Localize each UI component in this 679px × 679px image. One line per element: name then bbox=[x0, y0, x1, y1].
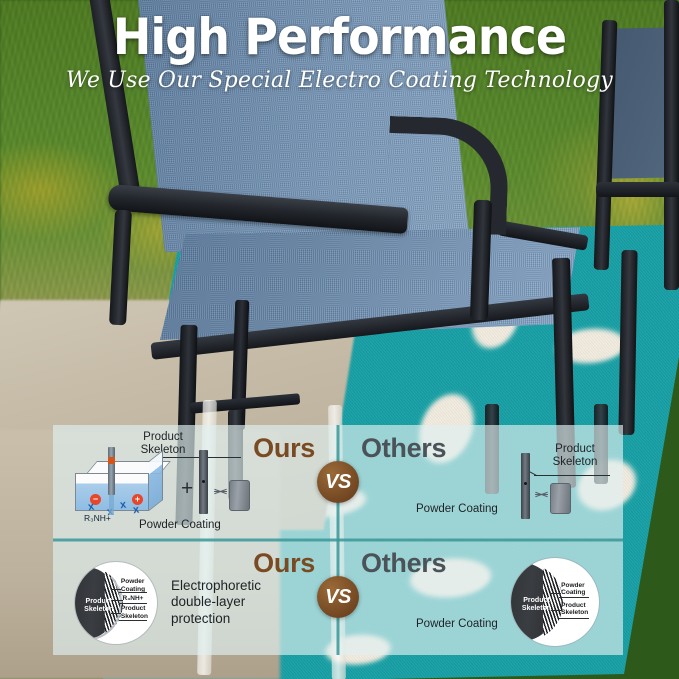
core-line1: Product bbox=[516, 597, 556, 605]
heading-ours-bottom: Ours bbox=[253, 548, 315, 579]
cell-others-process: Others Product Skeleton Powder Coating bbox=[338, 425, 623, 540]
leader-layer1-others bbox=[551, 593, 562, 594]
panel-divider-horizontal bbox=[53, 539, 623, 542]
page-title: High Performance bbox=[27, 11, 652, 64]
cell-ours-result: Ours Product Skeleton Powder Coating R₃N… bbox=[53, 540, 338, 655]
cross-section-layer1-ours: Powder Coating bbox=[121, 578, 145, 592]
ion-glyph-4: x bbox=[132, 504, 140, 517]
electrode-rod bbox=[108, 447, 115, 495]
product-skeleton-line1: Product bbox=[123, 431, 203, 444]
comparison-panel: Ours Product Skeleton − + x x x x R₃NH+ bbox=[53, 425, 623, 655]
header: High Performance We Use Our Special Elec… bbox=[0, 0, 679, 93]
marketing-image: High Performance We Use Our Special Elec… bbox=[0, 0, 679, 679]
cross-section-layer1-others: Powder Coating bbox=[561, 582, 585, 596]
underline-layer3-ours bbox=[119, 620, 147, 621]
heading-others-top: Others bbox=[361, 433, 446, 464]
label-product-skeleton-top-right: Product Skeleton bbox=[542, 443, 608, 470]
spray-gun-top-right bbox=[550, 483, 571, 514]
layer1-line1: Powder bbox=[561, 582, 585, 589]
benefit-line3: protection bbox=[171, 611, 261, 627]
layer2-line2: Skeleton bbox=[561, 609, 588, 616]
label-powder-coating-bottom-right: Powder Coating bbox=[416, 618, 498, 631]
product-skeleton-line2: Skeleton bbox=[123, 444, 203, 457]
spray-icon-top-left bbox=[214, 485, 228, 499]
electrode-contact-cap bbox=[108, 457, 115, 464]
cross-section-layer2-ours: R₃NH+ bbox=[123, 595, 144, 602]
benefit-line1: Electrophoretic bbox=[171, 578, 261, 594]
underline-layer2-others bbox=[559, 618, 589, 619]
table-leg bbox=[618, 250, 637, 435]
core-line2: Skeleton bbox=[516, 605, 556, 613]
leader-line-skeleton-right bbox=[534, 475, 610, 476]
heading-others-bottom: Others bbox=[361, 548, 446, 579]
cross-section-layer2-others: Product Skeleton bbox=[561, 602, 588, 616]
cell-ours-process: Ours Product Skeleton − + x x x x R₃NH+ bbox=[53, 425, 338, 540]
cross-section-others: Product Skeleton Powder Coating Product … bbox=[511, 558, 599, 646]
layer3-line1: Product bbox=[121, 605, 148, 612]
label-powder-coating-top-left: Powder Coating bbox=[139, 519, 221, 532]
cell-others-result: Others Powder Coating Product Skeleton P… bbox=[338, 540, 623, 655]
underline-layer1-others bbox=[559, 597, 589, 598]
layer3-line2: Skeleton bbox=[121, 613, 148, 620]
skeleton-anchor-dot-right bbox=[524, 482, 527, 485]
product-skeleton-line1: Product bbox=[542, 443, 608, 456]
product-skeleton-bar-top-right bbox=[521, 453, 530, 519]
benefit-line2: double-layer bbox=[171, 594, 261, 610]
electro-bath-diagram: − + x x x x R₃NH+ bbox=[75, 461, 170, 513]
leader-layer3-ours bbox=[111, 613, 121, 614]
layer1-line1: Powder bbox=[121, 578, 145, 585]
bath-side-face bbox=[149, 450, 163, 511]
cross-section-ours: Product Skeleton Powder Coating R₃NH+ Pr… bbox=[75, 562, 157, 644]
layer2-line1: Product bbox=[561, 602, 588, 609]
leader-layer1-ours bbox=[111, 589, 121, 590]
product-skeleton-line2: Skeleton bbox=[542, 456, 608, 469]
bath-solution-formula: R₃NH+ bbox=[84, 513, 111, 523]
cross-section-layer3-ours: Product Skeleton bbox=[121, 605, 148, 619]
spray-icon-top-right bbox=[535, 488, 549, 502]
vs-badge-bottom: VS bbox=[317, 576, 359, 618]
second-chair-armrest bbox=[596, 182, 679, 197]
heading-ours-top: Ours bbox=[253, 433, 315, 464]
skeleton-anchor-dot bbox=[202, 480, 205, 483]
ion-glyph-2: x bbox=[119, 499, 127, 512]
layer1-line2: Coating bbox=[561, 589, 585, 596]
spray-gun-top-left bbox=[229, 480, 250, 511]
leader-layer2-ours bbox=[112, 600, 123, 601]
page-subtitle: We Use Our Special Electro Coating Techn… bbox=[10, 67, 669, 93]
vs-badge-top: VS bbox=[317, 461, 359, 503]
leader-layer2-others bbox=[551, 610, 562, 611]
underline-layer1-ours bbox=[119, 592, 147, 593]
armrest-front-post bbox=[109, 210, 132, 326]
label-product-skeleton-top-left: Product Skeleton bbox=[123, 431, 203, 458]
plus-operator: + bbox=[181, 477, 193, 501]
label-powder-coating-top-right: Powder Coating bbox=[416, 503, 498, 516]
underline-layer2-ours bbox=[119, 603, 147, 604]
benefit-text-ours: Electrophoretic double-layer protection bbox=[171, 578, 261, 627]
